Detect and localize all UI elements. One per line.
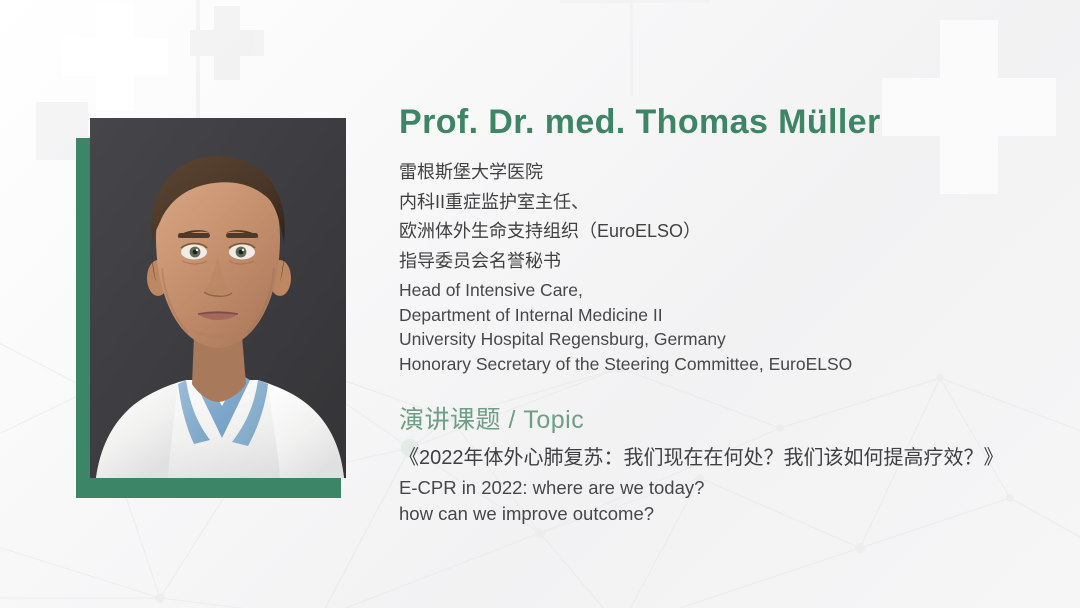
speaker-info-column: Prof. Dr. med. Thomas Müller 雷根斯堡大学医院 内科… bbox=[399, 100, 1059, 527]
topic-en-line: how can we improve outcome? bbox=[399, 501, 1059, 527]
affiliation-en-line: University Hospital Regensburg, Germany bbox=[399, 327, 1059, 352]
affiliation-cn-line: 指导委员会名誉秘书 bbox=[399, 247, 1059, 277]
affiliation-en-line: Head of Intensive Care, bbox=[399, 278, 1059, 303]
affiliation-chinese: 雷根斯堡大学医院 内科II重症监护室主任、 欧洲体外生命支持组织（EuroELS… bbox=[399, 158, 1059, 276]
affiliation-cn-line: 雷根斯堡大学医院 bbox=[399, 158, 1059, 188]
affiliation-english: Head of Intensive Care, Department of In… bbox=[399, 278, 1059, 376]
topic-title-english: E-CPR in 2022: where are we today? how c… bbox=[399, 475, 1059, 527]
affiliation-cn-line: 欧洲体外生命支持组织（EuroELSO） bbox=[399, 217, 1059, 247]
avatar bbox=[90, 118, 346, 478]
affiliation-en-line: Department of Internal Medicine II bbox=[399, 303, 1059, 328]
affiliation-cn-line: 内科II重症监护室主任、 bbox=[399, 188, 1059, 218]
topic-en-line: E-CPR in 2022: where are we today? bbox=[399, 475, 1059, 501]
affiliation-en-line: Honorary Secretary of the Steering Commi… bbox=[399, 352, 1059, 377]
portrait-illustration bbox=[90, 118, 346, 478]
speaker-photo-block bbox=[76, 118, 346, 500]
page-title: Prof. Dr. med. Thomas Müller bbox=[399, 100, 1059, 144]
topic-title-chinese: 《2022年体外心肺复苏：我们现在在何处？我们该如何提高疗效？》 bbox=[399, 444, 1059, 473]
speaker-slide: Prof. Dr. med. Thomas Müller 雷根斯堡大学医院 内科… bbox=[0, 0, 1080, 608]
topic-section-heading: 演讲课题 / Topic bbox=[399, 404, 1059, 436]
